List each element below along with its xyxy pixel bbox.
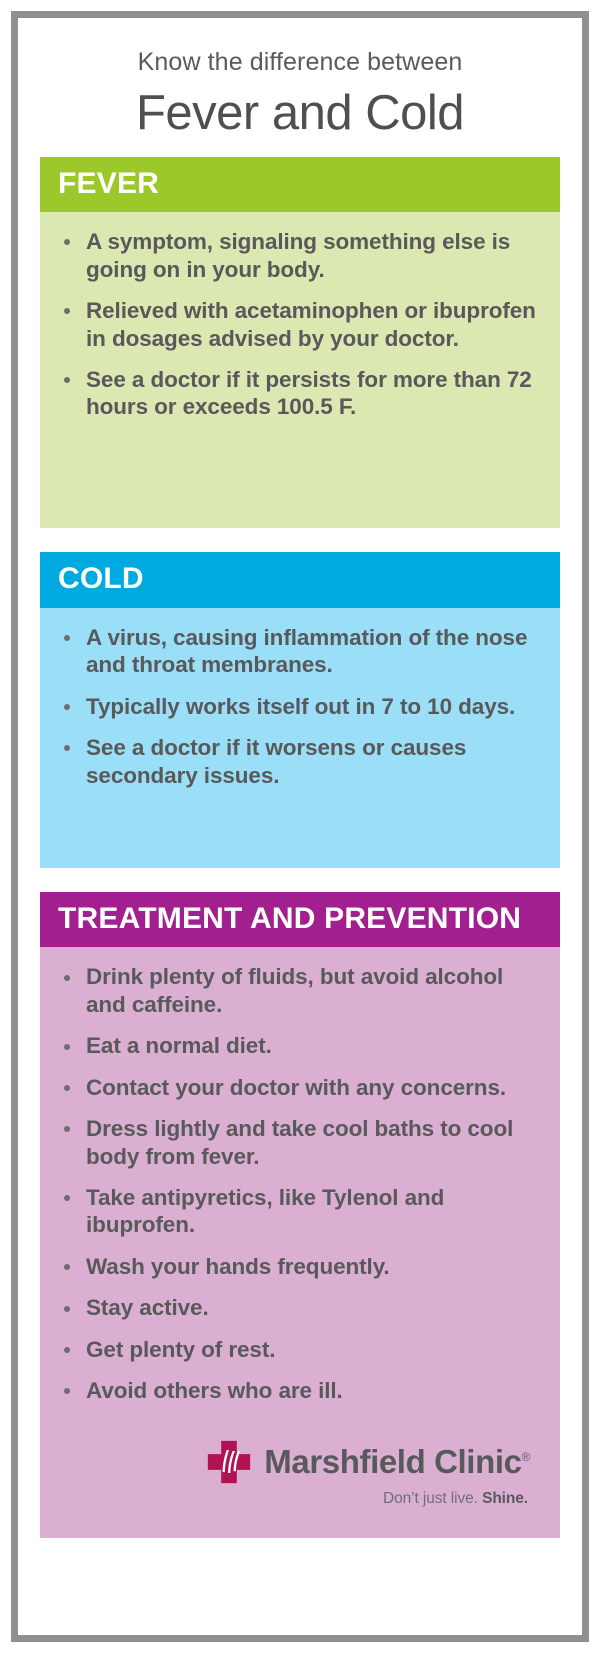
list-item-text: Take antipyretics, like Tylenol and ibup…	[86, 1185, 444, 1237]
list-item: Typically works itself out in 7 to 10 da…	[56, 693, 538, 720]
section-header-fever: FEVER	[40, 157, 560, 213]
bullet-icon	[64, 1306, 70, 1312]
list-item: Drink plenty of fluids, but avoid alcoho…	[56, 963, 538, 1018]
list-item: Avoid others who are ill.	[56, 1377, 538, 1404]
bullet-icon	[64, 704, 70, 710]
registered-mark: ®	[522, 1450, 530, 1464]
bullet-icon	[64, 1044, 70, 1050]
list-item: Get plenty of rest.	[56, 1336, 538, 1363]
list-item-text: Eat a normal diet.	[86, 1033, 272, 1058]
page-title: Fever and Cold	[40, 87, 560, 141]
tagline-plain: Don’t just live.	[383, 1490, 482, 1507]
poster-inner: Know the difference between Fever and Co…	[18, 18, 582, 1635]
list-item-text: See a doctor if it persists for more tha…	[86, 367, 532, 419]
bullet-icon	[64, 1264, 70, 1270]
bullet-icon	[64, 377, 70, 383]
list-item-text: See a doctor if it worsens or causes sec…	[86, 735, 466, 787]
list-item-text: Drink plenty of fluids, but avoid alcoho…	[86, 964, 503, 1016]
bullet-icon	[64, 308, 70, 314]
list-item: Take antipyretics, like Tylenol and ibup…	[56, 1184, 538, 1239]
bullet-icon	[64, 975, 70, 981]
footer-logo-area: Marshfield Clinic® Don’t just live. Shin…	[40, 1425, 560, 1538]
bullet-icon	[64, 239, 70, 245]
section-header-label: COLD	[58, 562, 542, 596]
list-item: Relieved with acetaminophen or ibuprofen…	[56, 297, 538, 352]
brand-wordmark: Marshfield Clinic®	[264, 1445, 530, 1478]
list-item-text: Get plenty of rest.	[86, 1337, 275, 1362]
list-item: Dress lightly and take cool baths to coo…	[56, 1115, 538, 1170]
bullet-list-fever: A symptom, signaling something else is g…	[56, 228, 538, 421]
bullet-icon	[64, 1126, 70, 1132]
list-item: See a doctor if it worsens or causes sec…	[56, 734, 538, 789]
tagline-bold: Shine.	[482, 1490, 528, 1507]
list-item-text: Contact your doctor with any concerns.	[86, 1075, 506, 1100]
list-item-text: A virus, causing inflammation of the nos…	[86, 625, 527, 677]
section-header-label: TREATMENT AND PREVENTION	[58, 902, 542, 936]
section-fever: FEVER A symptom, signaling something els…	[40, 157, 560, 529]
bullet-icon	[64, 1347, 70, 1353]
section-body-treatment: Drink plenty of fluids, but avoid alcoho…	[40, 947, 560, 1424]
section-treatment: TREATMENT AND PREVENTION Drink plenty of…	[40, 892, 560, 1538]
list-item: A virus, causing inflammation of the nos…	[56, 624, 538, 679]
bullet-icon	[64, 1388, 70, 1394]
list-item-text: Wash your hands frequently.	[86, 1254, 390, 1279]
brand-logo: Marshfield Clinic®	[206, 1439, 530, 1485]
list-item-text: Relieved with acetaminophen or ibuprofen…	[86, 298, 536, 350]
bullet-icon	[64, 635, 70, 641]
list-item: A symptom, signaling something else is g…	[56, 228, 538, 283]
marshfield-cross-icon	[206, 1439, 252, 1485]
list-item: See a doctor if it persists for more tha…	[56, 366, 538, 421]
list-item: Wash your hands frequently.	[56, 1253, 538, 1280]
list-item-text: Dress lightly and take cool baths to coo…	[86, 1116, 513, 1168]
bullet-icon	[64, 745, 70, 751]
section-body-fever: A symptom, signaling something else is g…	[40, 212, 560, 528]
bullet-list-cold: A virus, causing inflammation of the nos…	[56, 624, 538, 789]
brand-tagline: Don’t just live. Shine.	[383, 1490, 528, 1508]
bullet-icon	[64, 1195, 70, 1201]
list-item-text: Typically works itself out in 7 to 10 da…	[86, 694, 515, 719]
infographic-poster: Know the difference between Fever and Co…	[11, 11, 589, 1642]
bullet-icon	[64, 1085, 70, 1091]
list-item: Stay active.	[56, 1294, 538, 1321]
page-kicker: Know the difference between	[40, 48, 560, 77]
section-header-label: FEVER	[58, 167, 542, 201]
section-body-cold: A virus, causing inflammation of the nos…	[40, 608, 560, 868]
section-cold: COLD A virus, causing inflammation of th…	[40, 552, 560, 868]
section-header-cold: COLD	[40, 552, 560, 608]
section-header-treatment: TREATMENT AND PREVENTION	[40, 892, 560, 948]
list-item-text: Stay active.	[86, 1295, 209, 1320]
list-item: Contact your doctor with any concerns.	[56, 1074, 538, 1101]
list-item-text: Avoid others who are ill.	[86, 1378, 343, 1403]
brand-name: Marshfield Clinic	[264, 1443, 521, 1480]
bullet-list-treatment: Drink plenty of fluids, but avoid alcoho…	[56, 963, 538, 1404]
title-block: Know the difference between Fever and Co…	[40, 18, 560, 157]
list-item-text: A symptom, signaling something else is g…	[86, 229, 510, 281]
list-item: Eat a normal diet.	[56, 1032, 538, 1059]
